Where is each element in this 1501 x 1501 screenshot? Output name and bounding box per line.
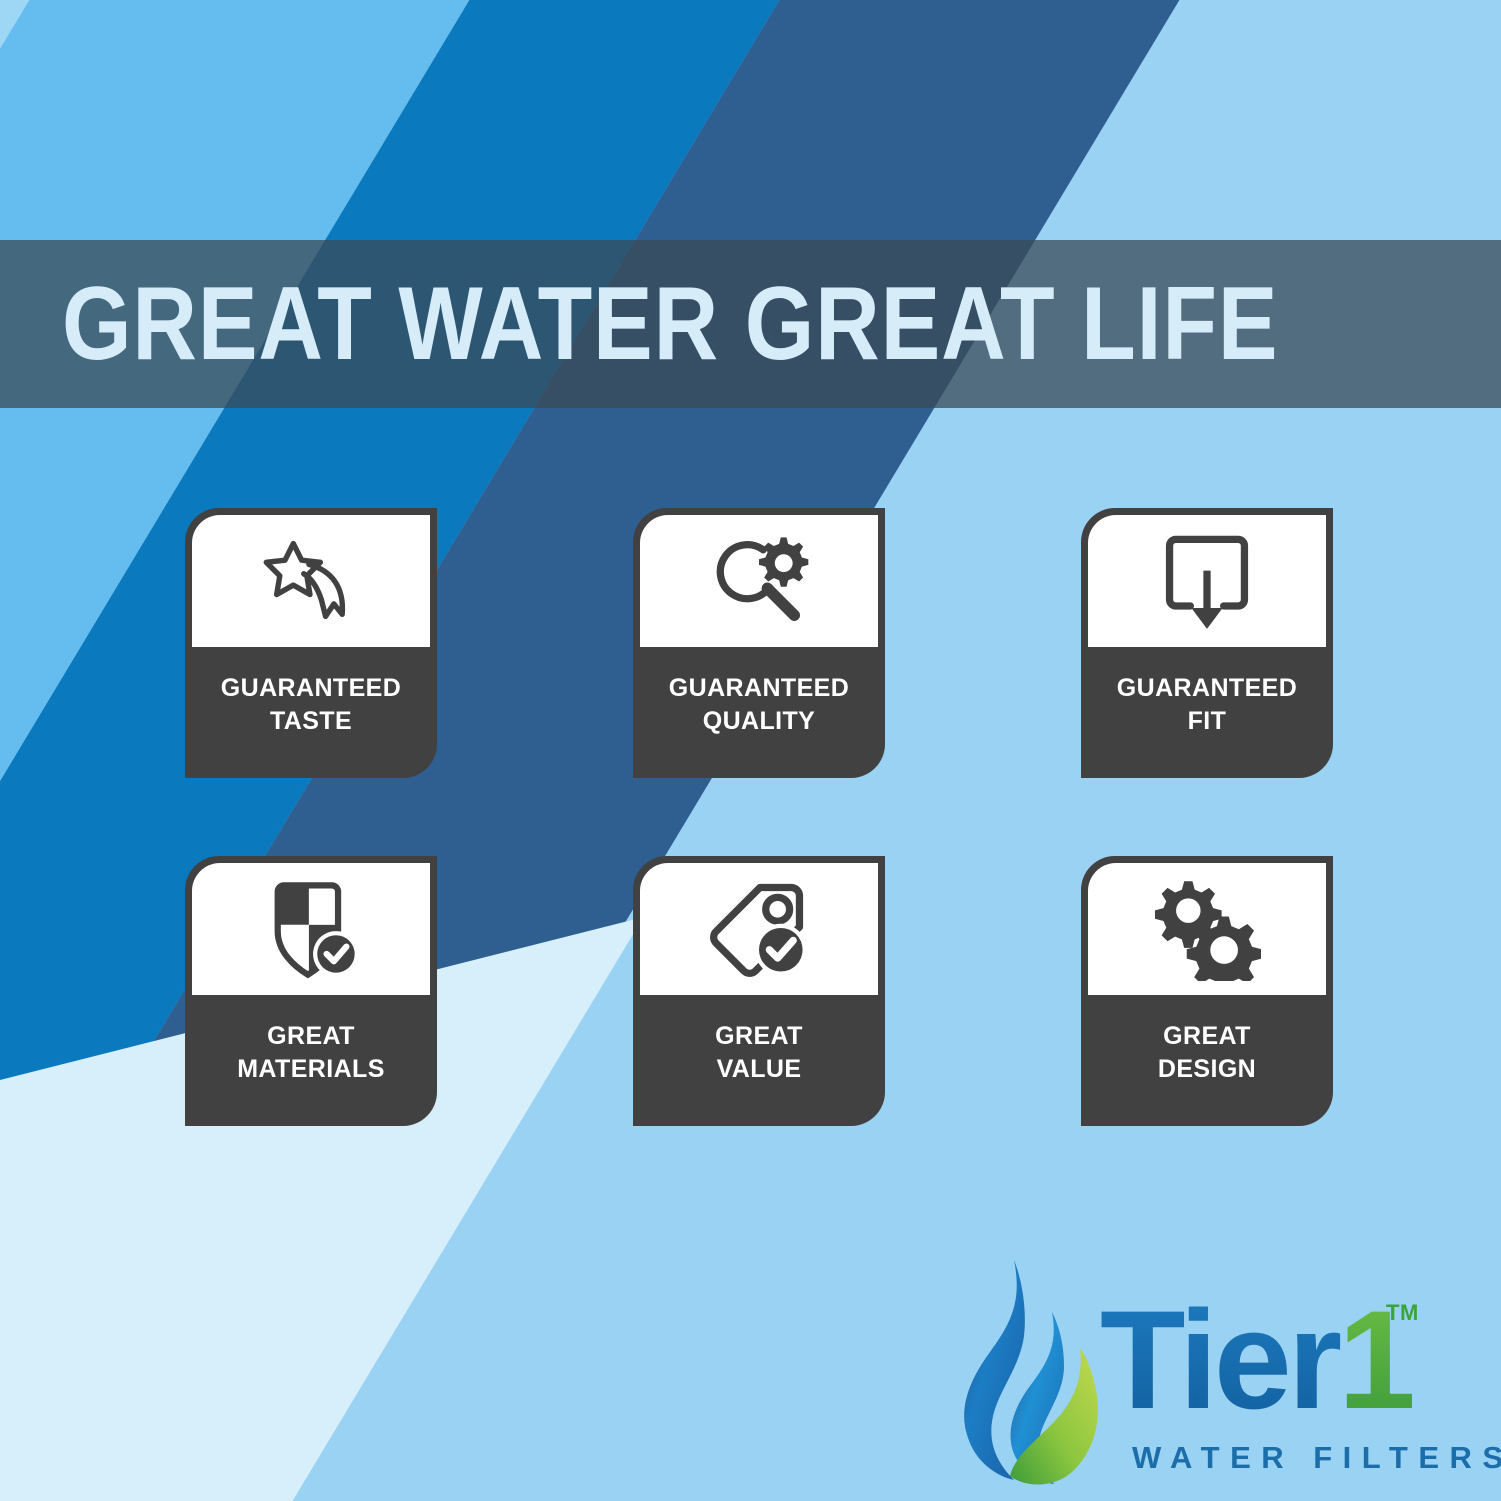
trademark-symbol: TM — [1386, 1300, 1419, 1326]
icon-panel — [1088, 863, 1326, 995]
icon-panel — [192, 863, 430, 995]
card-label: GUARANTEED QUALITY — [633, 647, 885, 778]
feature-card-guaranteed-quality[interactable]: GUARANTEED QUALITY — [633, 508, 885, 778]
feature-card-grid: GUARANTEED TASTE GUA — [185, 508, 1333, 1126]
card-label: GUARANTEED TASTE — [185, 647, 437, 778]
card-label: GREAT MATERIALS — [185, 995, 437, 1126]
shooting-star-icon — [259, 529, 363, 633]
page-title: GREAT WATER GREAT LIFE — [62, 272, 1278, 376]
card-label-line1: GREAT — [267, 1020, 355, 1053]
insert-arrow-down-icon — [1157, 529, 1257, 633]
card-label-line2: DESIGN — [1158, 1053, 1256, 1086]
promo-graphic: GREAT WATER GREAT LIFE GUARANTEED TASTE — [0, 0, 1501, 1501]
icon-panel — [192, 515, 430, 647]
card-label-line1: GUARANTEED — [221, 672, 401, 705]
feature-card-great-design[interactable]: GREAT DESIGN — [1081, 856, 1333, 1126]
feature-card-great-materials[interactable]: GREAT MATERIALS — [185, 856, 437, 1126]
water-drop-leaf-icon — [952, 1252, 1112, 1497]
card-label-line2: MATERIALS — [237, 1053, 385, 1086]
brand-wordmark: Tier 1 — [1100, 1290, 1430, 1445]
card-label: GREAT DESIGN — [1081, 995, 1333, 1126]
brand-logo: Tier 1 TM WATER FILTERS — [952, 1252, 1452, 1500]
feature-card-guaranteed-fit[interactable]: GUARANTEED FIT — [1081, 508, 1333, 778]
card-label: GREAT VALUE — [633, 995, 885, 1126]
shield-check-icon — [259, 877, 363, 981]
brand-tagline: WATER FILTERS — [1132, 1440, 1501, 1476]
card-label-line1: GUARANTEED — [1117, 672, 1297, 705]
card-label-line2: VALUE — [717, 1053, 802, 1086]
magnifier-gear-icon — [705, 529, 813, 633]
header-banner: GREAT WATER GREAT LIFE — [0, 240, 1501, 408]
price-tag-check-icon — [704, 877, 814, 981]
card-label: GUARANTEED FIT — [1081, 647, 1333, 778]
card-label-line1: GREAT — [715, 1020, 803, 1053]
card-label-line2: FIT — [1188, 705, 1227, 738]
card-label-line2: QUALITY — [703, 705, 816, 738]
feature-card-great-value[interactable]: GREAT VALUE — [633, 856, 885, 1126]
icon-panel — [640, 515, 878, 647]
card-label-line2: TASTE — [270, 705, 352, 738]
card-label-line1: GREAT — [1163, 1020, 1251, 1053]
svg-text:Tier: Tier — [1100, 1290, 1341, 1438]
feature-card-guaranteed-taste[interactable]: GUARANTEED TASTE — [185, 508, 437, 778]
icon-panel — [640, 863, 878, 995]
card-label-line1: GUARANTEED — [669, 672, 849, 705]
gears-icon — [1153, 877, 1261, 981]
icon-panel — [1088, 515, 1326, 647]
